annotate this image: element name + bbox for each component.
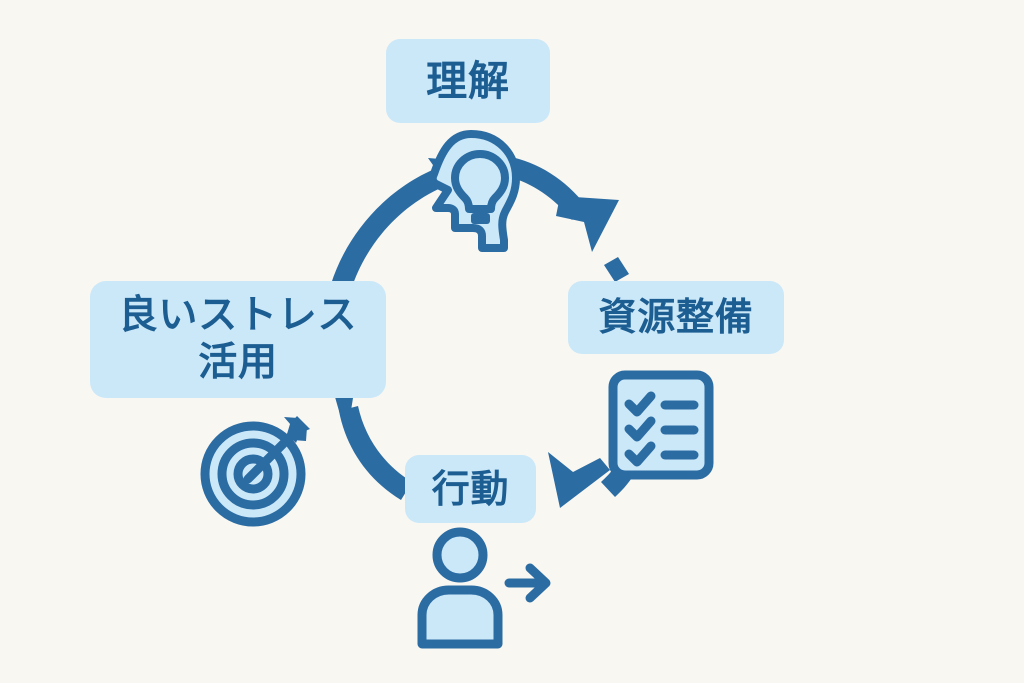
arrow-connector-tick-right xyxy=(604,257,629,282)
target-arrow-icon xyxy=(196,406,318,528)
head-lightbulb-icon xyxy=(410,128,532,256)
person-arrow-icon xyxy=(413,527,555,651)
node-resource-label: 資源整備 xyxy=(598,295,753,340)
node-resource[interactable]: 資源整備 xyxy=(568,281,784,354)
node-stress-label: 良いストレス 活用 xyxy=(119,293,358,385)
node-action[interactable]: 行動 xyxy=(405,455,536,523)
node-action-label: 行動 xyxy=(432,467,510,512)
node-understand-label: 理解 xyxy=(426,57,510,105)
node-stress[interactable]: 良いストレス 活用 xyxy=(90,281,386,398)
diagram-canvas: 理解 資源整備 行動 良いストレス 活用 xyxy=(0,0,1024,683)
checklist-icon xyxy=(606,368,716,482)
node-understand[interactable]: 理解 xyxy=(386,39,550,123)
